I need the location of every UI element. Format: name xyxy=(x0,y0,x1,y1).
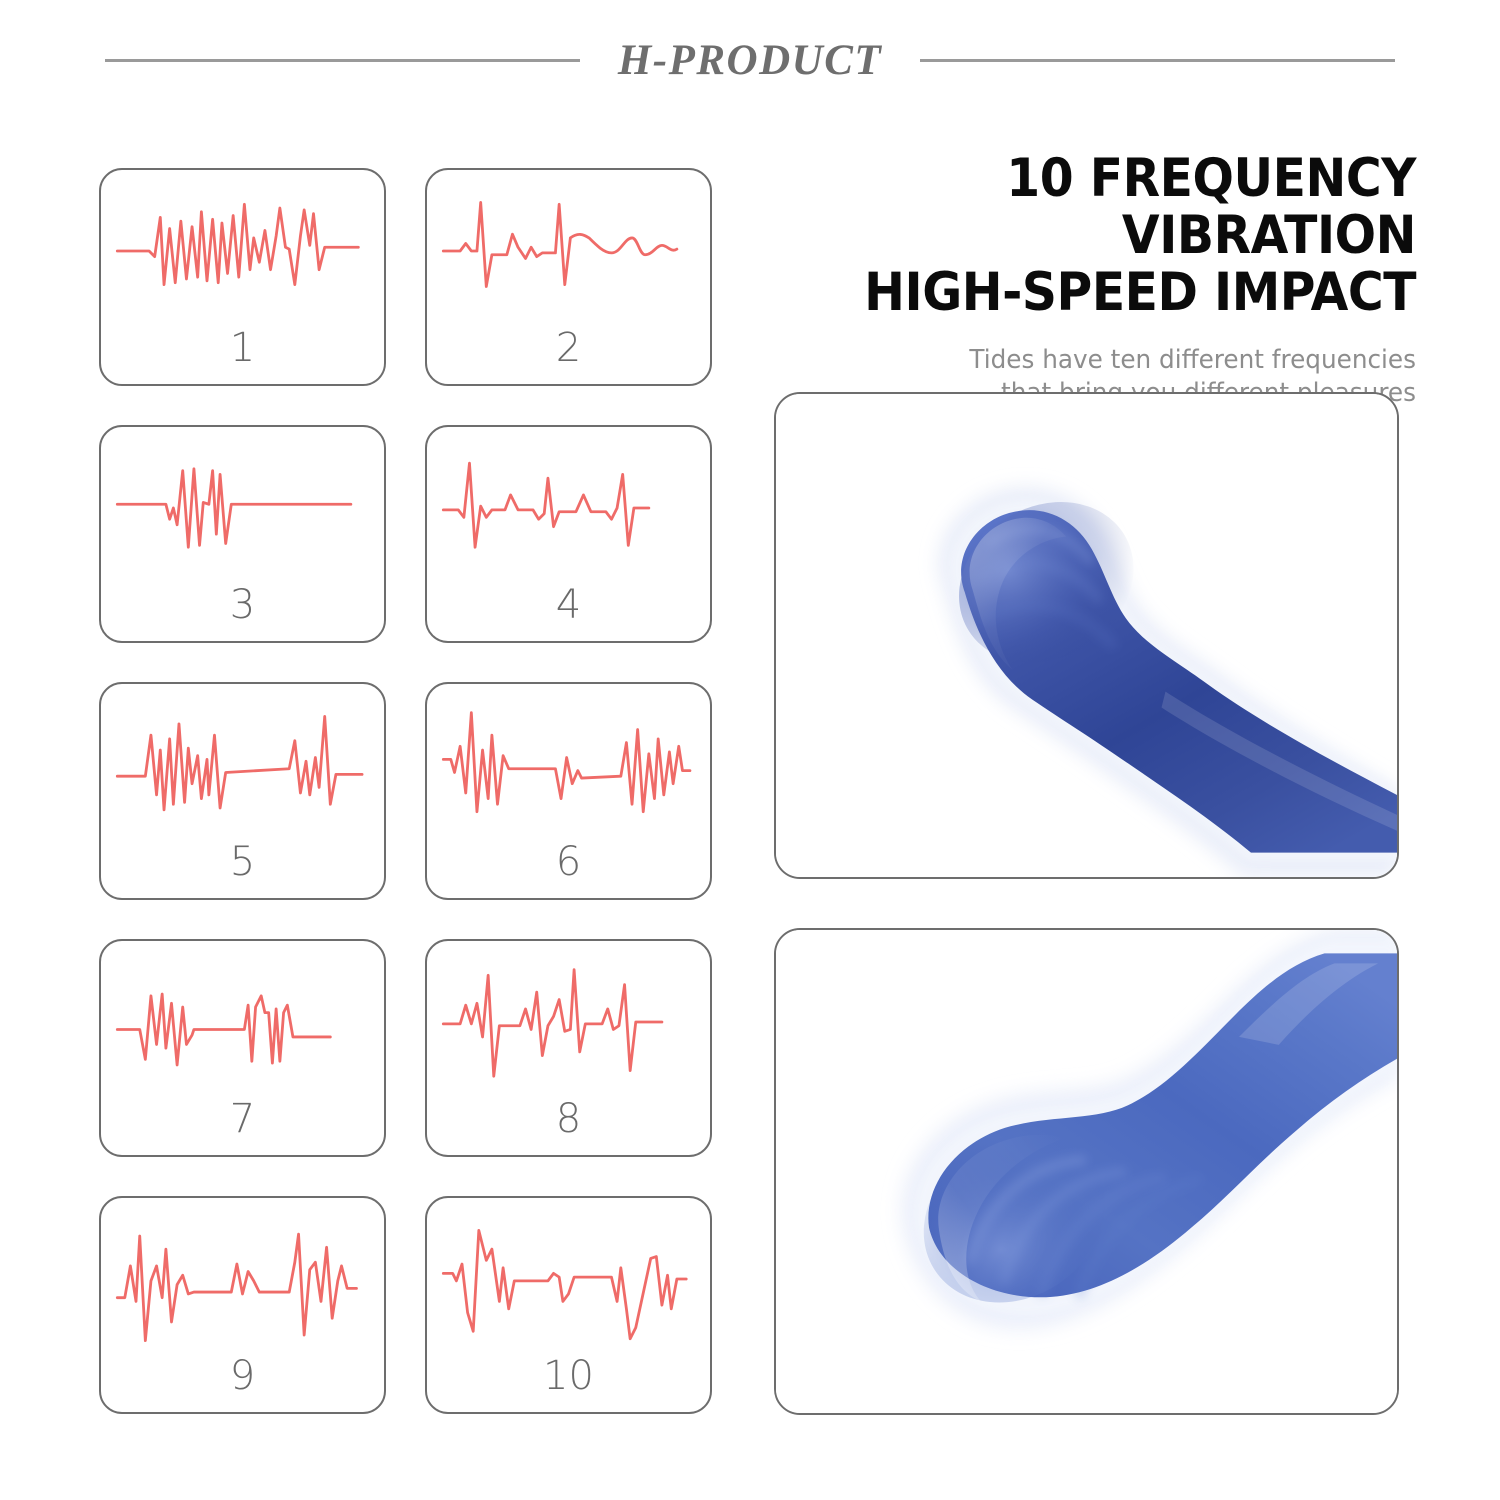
vibration-mode-1[interactable]: 1 xyxy=(99,168,386,386)
mode-number-label: 6 xyxy=(556,842,581,882)
mode-number-label: 8 xyxy=(556,1099,581,1139)
waveform-graphic xyxy=(101,1208,384,1350)
mode-number-label: 1 xyxy=(230,328,255,368)
waveform-path xyxy=(443,970,662,1077)
page-header: H-PRODUCT xyxy=(0,0,1500,120)
waveform-graphic xyxy=(427,437,710,579)
product-photo-bottom[interactable] xyxy=(774,928,1399,1415)
waveform-path xyxy=(443,1230,686,1338)
vibration-mode-8[interactable]: 8 xyxy=(425,939,712,1157)
waveform-graphic xyxy=(427,180,710,322)
vibration-mode-4[interactable]: 4 xyxy=(425,425,712,643)
waveform-path xyxy=(117,1234,356,1341)
vibration-mode-2[interactable]: 2 xyxy=(425,168,712,386)
waveform-path xyxy=(443,202,677,286)
product-photo-top[interactable] xyxy=(774,392,1399,879)
subtitle-line-1: Tides have ten different frequencies xyxy=(789,344,1416,377)
waveform-path xyxy=(443,463,649,547)
waveform-path xyxy=(117,994,330,1065)
waveform-path xyxy=(443,713,690,812)
brand-title: H-PRODUCT xyxy=(618,36,882,85)
vibration-mode-3[interactable]: 3 xyxy=(99,425,386,643)
vibration-mode-6[interactable]: 6 xyxy=(425,682,712,900)
waveform-path xyxy=(117,204,358,284)
vibration-mode-5[interactable]: 5 xyxy=(99,682,386,900)
vibration-mode-7[interactable]: 7 xyxy=(99,939,386,1157)
waveform-graphic xyxy=(427,951,710,1093)
waveform-path xyxy=(117,469,351,547)
mode-number-label: 2 xyxy=(556,328,581,368)
waveform-graphic xyxy=(101,180,384,322)
waveform-graphic xyxy=(427,694,710,836)
mode-number-label: 4 xyxy=(556,585,581,625)
product-image-top xyxy=(776,394,1397,877)
headline: 10 FREQUENCY VIBRATION HIGH-SPEED IMPACT xyxy=(809,150,1416,322)
vibration-mode-9[interactable]: 9 xyxy=(99,1196,386,1414)
headline-line-2: HIGH-SPEED IMPACT xyxy=(809,264,1416,321)
headline-line-1: 10 FREQUENCY VIBRATION xyxy=(809,150,1416,264)
waveform-graphic xyxy=(101,951,384,1093)
product-image-bottom xyxy=(776,930,1397,1413)
waveform-graphic xyxy=(101,694,384,836)
vibration-mode-grid: 12345678910 xyxy=(99,168,719,1414)
mode-number-label: 7 xyxy=(230,1099,255,1139)
header-rule-left xyxy=(105,59,580,62)
waveform-graphic xyxy=(101,437,384,579)
mode-number-label: 9 xyxy=(230,1356,255,1396)
mode-number-label: 3 xyxy=(230,585,255,625)
waveform-graphic xyxy=(427,1208,710,1350)
hero-text-block: 10 FREQUENCY VIBRATION HIGH-SPEED IMPACT… xyxy=(756,150,1416,410)
waveform-path xyxy=(117,716,362,809)
header-rule-right xyxy=(920,59,1395,62)
vibration-mode-10[interactable]: 10 xyxy=(425,1196,712,1414)
mode-number-label: 10 xyxy=(543,1356,594,1396)
mode-number-label: 5 xyxy=(230,842,255,882)
